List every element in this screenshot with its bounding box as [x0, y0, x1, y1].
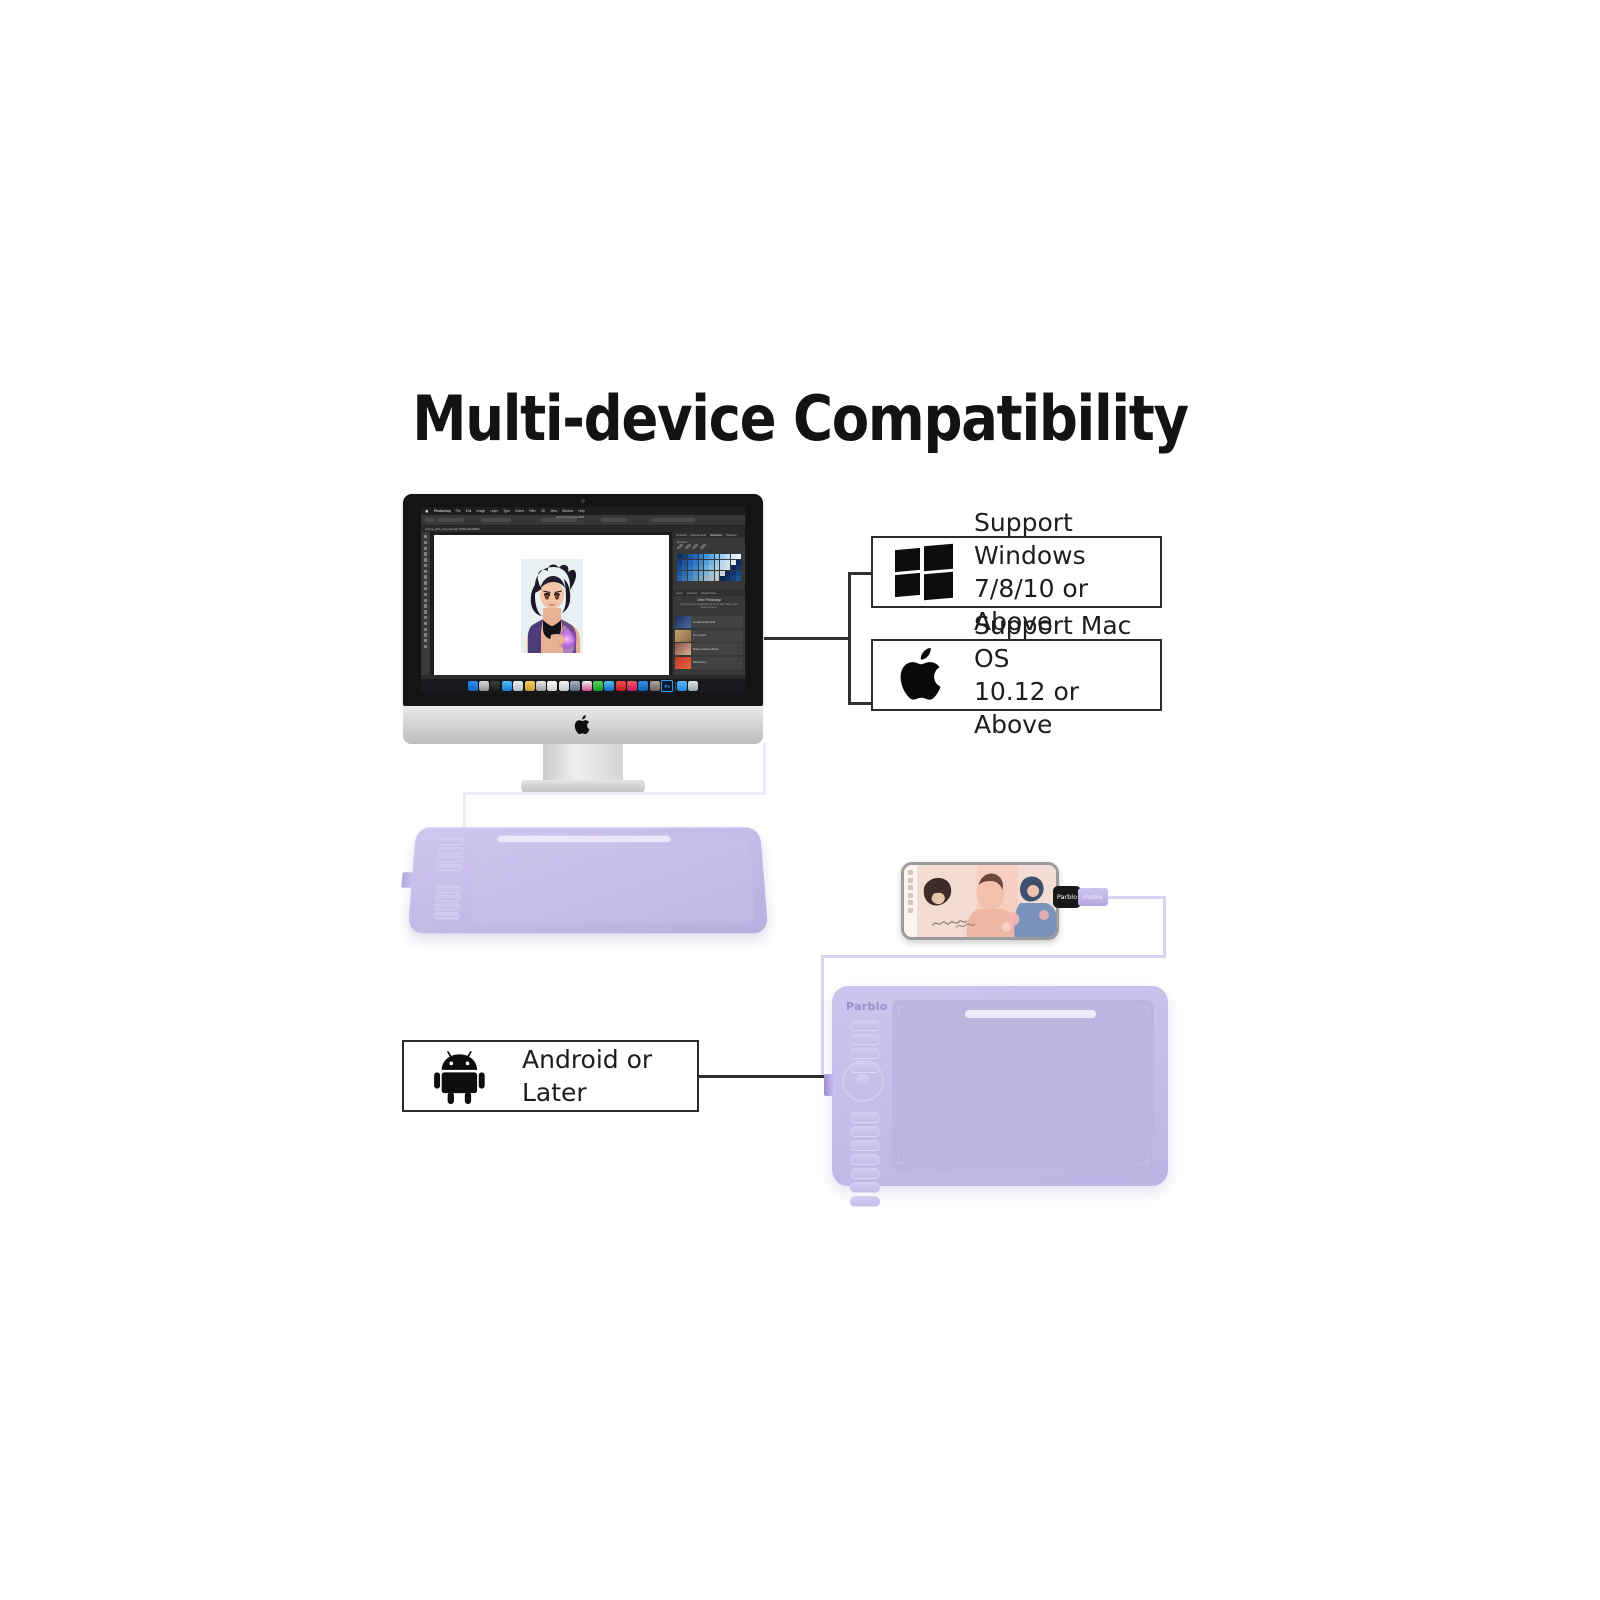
tablet-dial[interactable] — [842, 1060, 884, 1102]
menu-item-help[interactable]: Help — [578, 509, 585, 513]
tool-eraser-icon[interactable] — [424, 593, 427, 596]
swatch-color[interactable] — [736, 554, 741, 559]
swatch-color[interactable] — [677, 571, 682, 576]
swatch-color[interactable] — [682, 565, 687, 570]
callout-android-line1: Android or Later — [522, 1043, 697, 1109]
menu-item-layer[interactable]: Layer — [490, 509, 498, 513]
tool-eyedropper-icon[interactable] — [424, 564, 427, 567]
launchpad-icon[interactable] — [479, 681, 489, 691]
learn-tab-discover[interactable]: Discover — [687, 592, 697, 595]
appstore-grid-icon[interactable] — [536, 681, 546, 691]
list-item[interactable]: Fundamental skills › — [675, 616, 743, 628]
swatch-color[interactable] — [709, 560, 714, 565]
menu-item-photoshop[interactable]: Photoshop — [434, 509, 451, 513]
menu-item-edit[interactable]: Edit — [466, 509, 472, 513]
brush-preset[interactable] — [692, 544, 698, 549]
swatch-color[interactable] — [704, 576, 709, 581]
express-key[interactable] — [850, 1182, 880, 1193]
swatch-color[interactable] — [715, 560, 720, 565]
swatch-color[interactable] — [715, 571, 720, 576]
cable-phone-down — [1163, 896, 1166, 958]
tablet-pen-slot — [965, 1010, 1096, 1018]
active-area-corner-mark — [1139, 1155, 1148, 1164]
connector-imac-trunk — [764, 637, 850, 640]
tool-brush-icon[interactable] — [424, 575, 427, 578]
swatch-color[interactable] — [715, 554, 720, 559]
blocked-icon[interactable] — [616, 681, 626, 691]
swatch-color[interactable] — [699, 571, 704, 576]
swatch-color[interactable] — [731, 571, 736, 576]
swatch-color[interactable] — [731, 554, 736, 559]
tool-path-icon[interactable] — [424, 628, 427, 631]
express-key[interactable] — [437, 855, 463, 862]
notes-icon[interactable] — [525, 681, 535, 691]
tool-zoom-icon[interactable] — [424, 645, 427, 648]
tutorial-label: Make creative effects — [691, 648, 738, 651]
messages-icon[interactable] — [593, 681, 603, 691]
swatch-color[interactable] — [693, 576, 698, 581]
active-area-corner-mark — [898, 1006, 907, 1015]
tutorial-label: Fix a photo — [691, 634, 738, 637]
swatch-color[interactable] — [704, 554, 709, 559]
windows-logo-icon — [895, 544, 953, 600]
app-tool-icon[interactable] — [908, 908, 913, 913]
tool-crop-icon[interactable] — [424, 558, 427, 561]
graphics-tablet-top[interactable] — [408, 827, 769, 933]
express-key[interactable] — [438, 847, 464, 854]
callout-windows[interactable]: Support Windows 7/8/10 or Above — [871, 536, 1162, 608]
menu-item-image[interactable]: Image — [476, 509, 485, 513]
callout-macos-line1: Support Mac OS — [974, 609, 1160, 675]
swatch-color[interactable] — [725, 565, 730, 570]
tool-healing-icon[interactable] — [424, 570, 427, 573]
callout-windows-line1: Support Windows — [974, 506, 1160, 572]
express-key[interactable] — [434, 894, 461, 901]
tutorial-label: Fundamental skills — [691, 621, 738, 624]
menu-item-file[interactable]: File — [456, 509, 461, 513]
swatch-color[interactable] — [709, 554, 714, 559]
numbers-icon[interactable] — [559, 681, 569, 691]
list-item[interactable]: Fix a photo › — [675, 630, 743, 642]
swatch-color[interactable] — [688, 554, 693, 559]
swatch-color[interactable] — [709, 565, 714, 570]
express-key[interactable] — [850, 1140, 880, 1151]
photoshop-options-bar[interactable]: Adobe Photoshop 2020 — [421, 515, 745, 526]
callout-macos-text: Support Mac OS 10.12 or Above — [951, 609, 1160, 741]
tablet-brand-logo: Parblo — [846, 1000, 888, 1013]
swatch-color[interactable] — [725, 571, 730, 576]
express-key[interactable] — [850, 1020, 880, 1031]
tool-blur-icon[interactable] — [424, 604, 427, 607]
menu-item-window[interactable]: Window — [562, 509, 573, 513]
dock-separator — [675, 682, 676, 691]
swatch-color[interactable] — [677, 560, 682, 565]
tool-move-icon[interactable] — [424, 535, 427, 538]
callout-macos-line2: 10.12 or Above — [974, 675, 1160, 741]
swatch-color[interactable] — [720, 554, 725, 559]
safari-icon[interactable] — [502, 681, 512, 691]
swatch-color[interactable] — [715, 576, 720, 581]
system-preferences-icon[interactable] — [650, 681, 660, 691]
express-key[interactable] — [434, 903, 461, 910]
panel-tab-patterns[interactable]: Patterns — [726, 533, 736, 537]
swatch-color[interactable] — [704, 565, 709, 570]
trash-icon[interactable] — [688, 681, 698, 691]
express-key[interactable] — [850, 1168, 880, 1179]
swatch-color[interactable] — [677, 554, 682, 559]
chevron-right-icon[interactable]: › — [738, 620, 743, 624]
app-tool-icon[interactable] — [908, 870, 913, 875]
swatch-color[interactable] — [682, 560, 687, 565]
usb-otg-adapter[interactable]: Parblo — [1053, 886, 1081, 908]
tool-pen-icon[interactable] — [424, 616, 427, 619]
brush-preset[interactable] — [677, 544, 683, 549]
menu-item-select[interactable]: Select — [515, 509, 524, 513]
news-icon[interactable] — [513, 681, 523, 691]
swatch-color[interactable] — [720, 571, 725, 576]
panel-tab-adjustments[interactable]: Adjustments — [691, 533, 706, 537]
imac-screen: Photoshop File Edit Image Layer Type Sel… — [421, 507, 745, 693]
swatch-color[interactable] — [682, 571, 687, 576]
swatch-color[interactable] — [725, 576, 730, 581]
imac-camera-icon — [581, 499, 585, 503]
swatch-color[interactable] — [704, 560, 709, 565]
tool-stamp-icon[interactable] — [424, 581, 427, 584]
swatch-color[interactable] — [736, 565, 741, 570]
cable-phone-horizontal — [1108, 896, 1166, 899]
imac-stand-neck — [543, 744, 623, 782]
imac-desktop-device: Photoshop File Edit Image Layer Type Sel… — [403, 494, 763, 754]
swatch-color[interactable] — [699, 554, 704, 559]
active-area-corner-mark — [1139, 1006, 1148, 1015]
brush-preset[interactable] — [700, 544, 706, 549]
cable-imac-horizontal — [466, 792, 766, 795]
photoshop-application: Photoshop File Edit Image Layer Type Sel… — [421, 507, 745, 693]
express-key[interactable] — [850, 1126, 880, 1137]
swatch-color[interactable] — [682, 576, 687, 581]
photoshop-icon[interactable]: Ps — [661, 680, 673, 692]
finder-icon[interactable] — [468, 681, 478, 691]
tool-lasso-icon[interactable] — [424, 547, 427, 550]
tutorial-thumbnail — [675, 657, 691, 669]
swatch-color[interactable] — [677, 565, 682, 570]
express-key[interactable] — [850, 1154, 880, 1165]
learn-tab-learn[interactable]: Learn — [676, 592, 683, 595]
list-item[interactable]: Make creative effects › — [675, 643, 743, 655]
swatch-color[interactable] — [704, 571, 709, 576]
tutorial-label: Retouching — [691, 661, 738, 664]
swatch-color[interactable] — [709, 571, 714, 576]
cable-tablet-top-run — [821, 955, 1166, 958]
menu-item-filter[interactable]: Filter — [529, 509, 536, 513]
tool-gradient-icon[interactable] — [424, 599, 427, 602]
express-key[interactable] — [850, 1048, 880, 1059]
swatch-color[interactable] — [709, 576, 714, 581]
tablet-active-area[interactable] — [472, 836, 756, 923]
usb-cable-plug[interactable]: Parblo — [1078, 888, 1108, 906]
page-title: Multi-device Compatibility — [96, 382, 1504, 455]
tool-dodge-icon[interactable] — [424, 610, 427, 613]
swatch-color[interactable] — [688, 565, 693, 570]
learn-panel-subtitle: Step-by-step tutorials directly in the a… — [679, 603, 739, 610]
swatch-color[interactable] — [731, 565, 736, 570]
connector-android-to-tablet — [698, 1075, 826, 1078]
tutorial-thumbnail — [675, 630, 691, 642]
learn-tab-row[interactable]: Learn Discover Recent Files — [673, 590, 745, 596]
swatch-color[interactable] — [677, 576, 682, 581]
swatch-color[interactable] — [682, 554, 687, 559]
swatch-color[interactable] — [688, 576, 693, 581]
photoshop-menubar[interactable]: Photoshop File Edit Image Layer Type Sel… — [421, 507, 745, 515]
menu-item-view[interactable]: View — [550, 509, 557, 513]
swatch-color[interactable] — [731, 576, 736, 581]
swatch-color[interactable] — [699, 576, 704, 581]
app-tool-icon[interactable] — [908, 878, 913, 883]
tablet-active-area[interactable] — [892, 1000, 1154, 1170]
photoshop-toolbar[interactable] — [421, 532, 430, 679]
appstore-icon[interactable] — [638, 681, 648, 691]
tool-hand-icon[interactable] — [424, 639, 427, 642]
express-key[interactable] — [850, 1196, 880, 1207]
anime-artwork-illustration — [917, 865, 1056, 937]
connector-to-mac-box — [848, 702, 873, 705]
apple-logo-icon — [895, 645, 951, 705]
app-tool-icon[interactable] — [908, 885, 913, 890]
express-key[interactable] — [850, 1034, 880, 1045]
swatch-color[interactable] — [693, 560, 698, 565]
swatch-color[interactable] — [720, 565, 725, 570]
macos-dock[interactable]: Ps — [421, 679, 745, 693]
callout-android[interactable]: Android or Later — [402, 1040, 699, 1112]
android-robot-icon — [434, 1048, 492, 1104]
callout-macos[interactable]: Support Mac OS 10.12 or Above — [871, 639, 1162, 711]
express-key[interactable] — [850, 1112, 880, 1123]
express-key[interactable] — [438, 838, 464, 844]
keynote-icon[interactable] — [570, 681, 580, 691]
swatch-color[interactable] — [715, 565, 720, 570]
swatch-color[interactable] — [688, 571, 693, 576]
swatch-color[interactable] — [693, 571, 698, 576]
apple-menu-icon[interactable] — [425, 509, 429, 513]
tool-marquee-icon[interactable] — [424, 541, 427, 544]
panel-tab-swatches[interactable]: Swatches — [710, 533, 722, 537]
photoshop-canvas[interactable] — [434, 535, 669, 676]
swatch-color[interactable] — [720, 576, 725, 581]
cable-imac-down-right — [763, 742, 766, 794]
downloads-folder-icon[interactable] — [677, 681, 687, 691]
document-tab[interactable]: Anime_Girl_Copy.psd @ 100% (RGB/8#) — [425, 527, 480, 531]
adapter-brand-label: Parblo — [1057, 893, 1077, 901]
swatch-color[interactable] — [693, 565, 698, 570]
canvas-artwork — [521, 559, 583, 653]
swatch-color[interactable] — [736, 576, 741, 581]
imac-display-bezel: Photoshop File Edit Image Layer Type Sel… — [403, 494, 763, 706]
swatch-color[interactable] — [699, 560, 704, 565]
tool-type-icon[interactable] — [424, 622, 427, 625]
express-key[interactable] — [433, 912, 460, 919]
photos-icon[interactable] — [582, 681, 592, 691]
learn-panel-title: Learn Photoshop — [673, 598, 745, 602]
tablet-usb-port[interactable] — [401, 872, 414, 887]
swatch-color[interactable] — [720, 560, 725, 565]
swatch-color[interactable] — [725, 560, 730, 565]
brush-preset-row[interactable] — [677, 544, 706, 549]
learn-tutorial-list[interactable]: Fundamental skills › Fix a photo › Make … — [675, 616, 743, 669]
imac-chin — [403, 706, 763, 744]
pages-icon[interactable] — [547, 681, 557, 691]
graphics-tablet-bottom[interactable]: Parblo — [832, 986, 1168, 1186]
swatch-color[interactable] — [731, 560, 736, 565]
dial-center-button[interactable] — [856, 1074, 870, 1088]
app-tool-icon[interactable] — [908, 893, 913, 898]
brush-preset[interactable] — [685, 544, 691, 549]
photoshop-canvas-area[interactable] — [430, 532, 673, 679]
anime-character-illustration — [521, 559, 583, 653]
music-icon[interactable] — [627, 681, 637, 691]
swatch-color[interactable] — [736, 571, 741, 576]
cable-tablet-down-left — [821, 955, 824, 1075]
imac-stand-foot — [521, 780, 645, 792]
menu-item-type[interactable]: Type — [503, 509, 510, 513]
app-tool-icon[interactable] — [908, 900, 913, 905]
tablet-usb-port[interactable] — [824, 1074, 835, 1096]
chevron-right-icon[interactable]: › — [738, 647, 743, 651]
drawing-app-toolbar[interactable] — [904, 865, 917, 937]
swatch-color-grid[interactable] — [677, 554, 741, 581]
tutorial-thumbnail — [675, 643, 691, 655]
swatch-color[interactable] — [736, 560, 741, 565]
tool-shape-icon[interactable] — [424, 633, 427, 636]
apple-logo-icon — [573, 714, 593, 736]
callout-android-text: Android or Later — [492, 1043, 697, 1109]
tutorial-thumbnail — [675, 616, 691, 628]
chevron-right-icon[interactable]: › — [738, 661, 743, 665]
phone-artwork — [917, 865, 1056, 937]
learn-tab-recent[interactable]: Recent Files — [701, 592, 716, 595]
swatch-color[interactable] — [725, 554, 730, 559]
mail-icon[interactable] — [604, 681, 614, 691]
connector-to-windows-box — [848, 572, 873, 575]
connector-vertical-branch — [848, 572, 851, 704]
tool-history-brush-icon[interactable] — [424, 587, 427, 590]
tablet-pen-slot — [498, 836, 671, 842]
panel-tab-row[interactable]: Libraries Adjustments Swatches Patterns — [673, 532, 745, 538]
plug-brand-label: Parblo — [1084, 894, 1103, 901]
phone-screen[interactable] — [904, 865, 1056, 937]
list-item[interactable]: Retouching › — [675, 657, 743, 669]
photoshop-window-title: Adobe Photoshop 2020 — [556, 516, 584, 519]
tool-wand-icon[interactable] — [424, 552, 427, 555]
android-smartphone[interactable] — [901, 862, 1059, 940]
swatch-color[interactable] — [693, 554, 698, 559]
menu-item-3d[interactable]: 3D — [541, 509, 545, 513]
active-area-corner-mark — [898, 1155, 907, 1164]
compatibility-infographic: Multi-device Compatibility Photoshop Fil… — [0, 0, 1600, 1600]
safari-compass-icon[interactable] — [490, 681, 500, 691]
photoshop-right-panels[interactable]: Libraries Adjustments Swatches Patterns … — [672, 532, 745, 679]
swatch-color[interactable] — [688, 560, 693, 565]
swatch-color[interactable] — [699, 565, 704, 570]
panel-tab-libraries[interactable]: Libraries — [676, 533, 687, 537]
chevron-right-icon[interactable]: › — [738, 634, 743, 638]
